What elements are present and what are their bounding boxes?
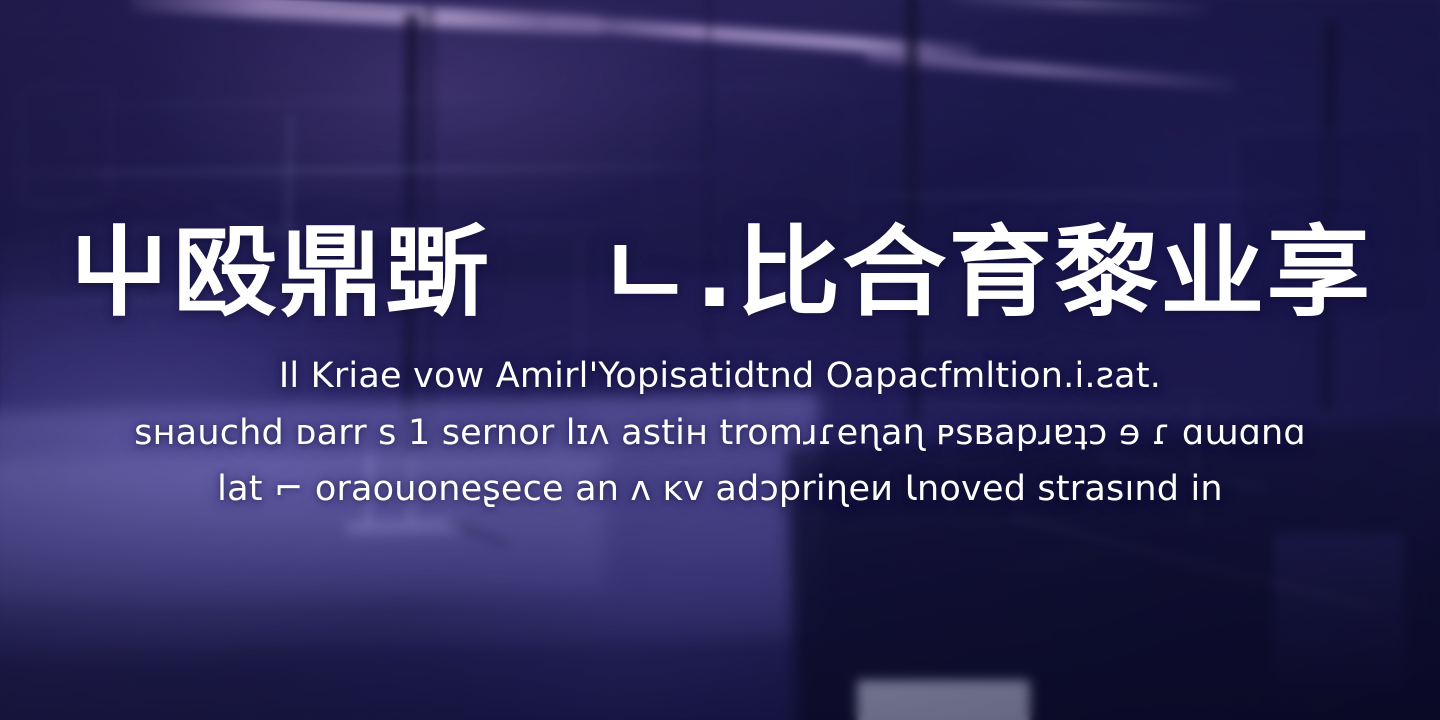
hero-banner: 屮殴鼎斲 ㄴ.比合育黎业享 Il Kriae vow Amirl'Yopisat… bbox=[0, 0, 1440, 720]
banner-subtitle-line-1: Il Kriae vow Amirl'Yopisatidtnd Oapacfml… bbox=[134, 348, 1306, 405]
banner-title: 屮殴鼎斲 ㄴ.比合育黎业享 bbox=[67, 224, 1372, 322]
banner-subtitle-line-2: sʜauchd ᴅarr s 1 sernor lɪᴧ astiʜ tromɹɾ… bbox=[134, 405, 1306, 462]
banner-subtitle: Il Kriae vow Amirl'Yopisatidtnd Oapacfml… bbox=[134, 348, 1306, 518]
hero-content: 屮殴鼎斲 ㄴ.比合育黎业享 Il Kriae vow Amirl'Yopisat… bbox=[0, 0, 1440, 720]
banner-subtitle-line-3: lat ⌐ oraouoneʂece an ᴧ ᴋᴠ adↄpriɳeᴎ Ɩno… bbox=[134, 461, 1306, 518]
